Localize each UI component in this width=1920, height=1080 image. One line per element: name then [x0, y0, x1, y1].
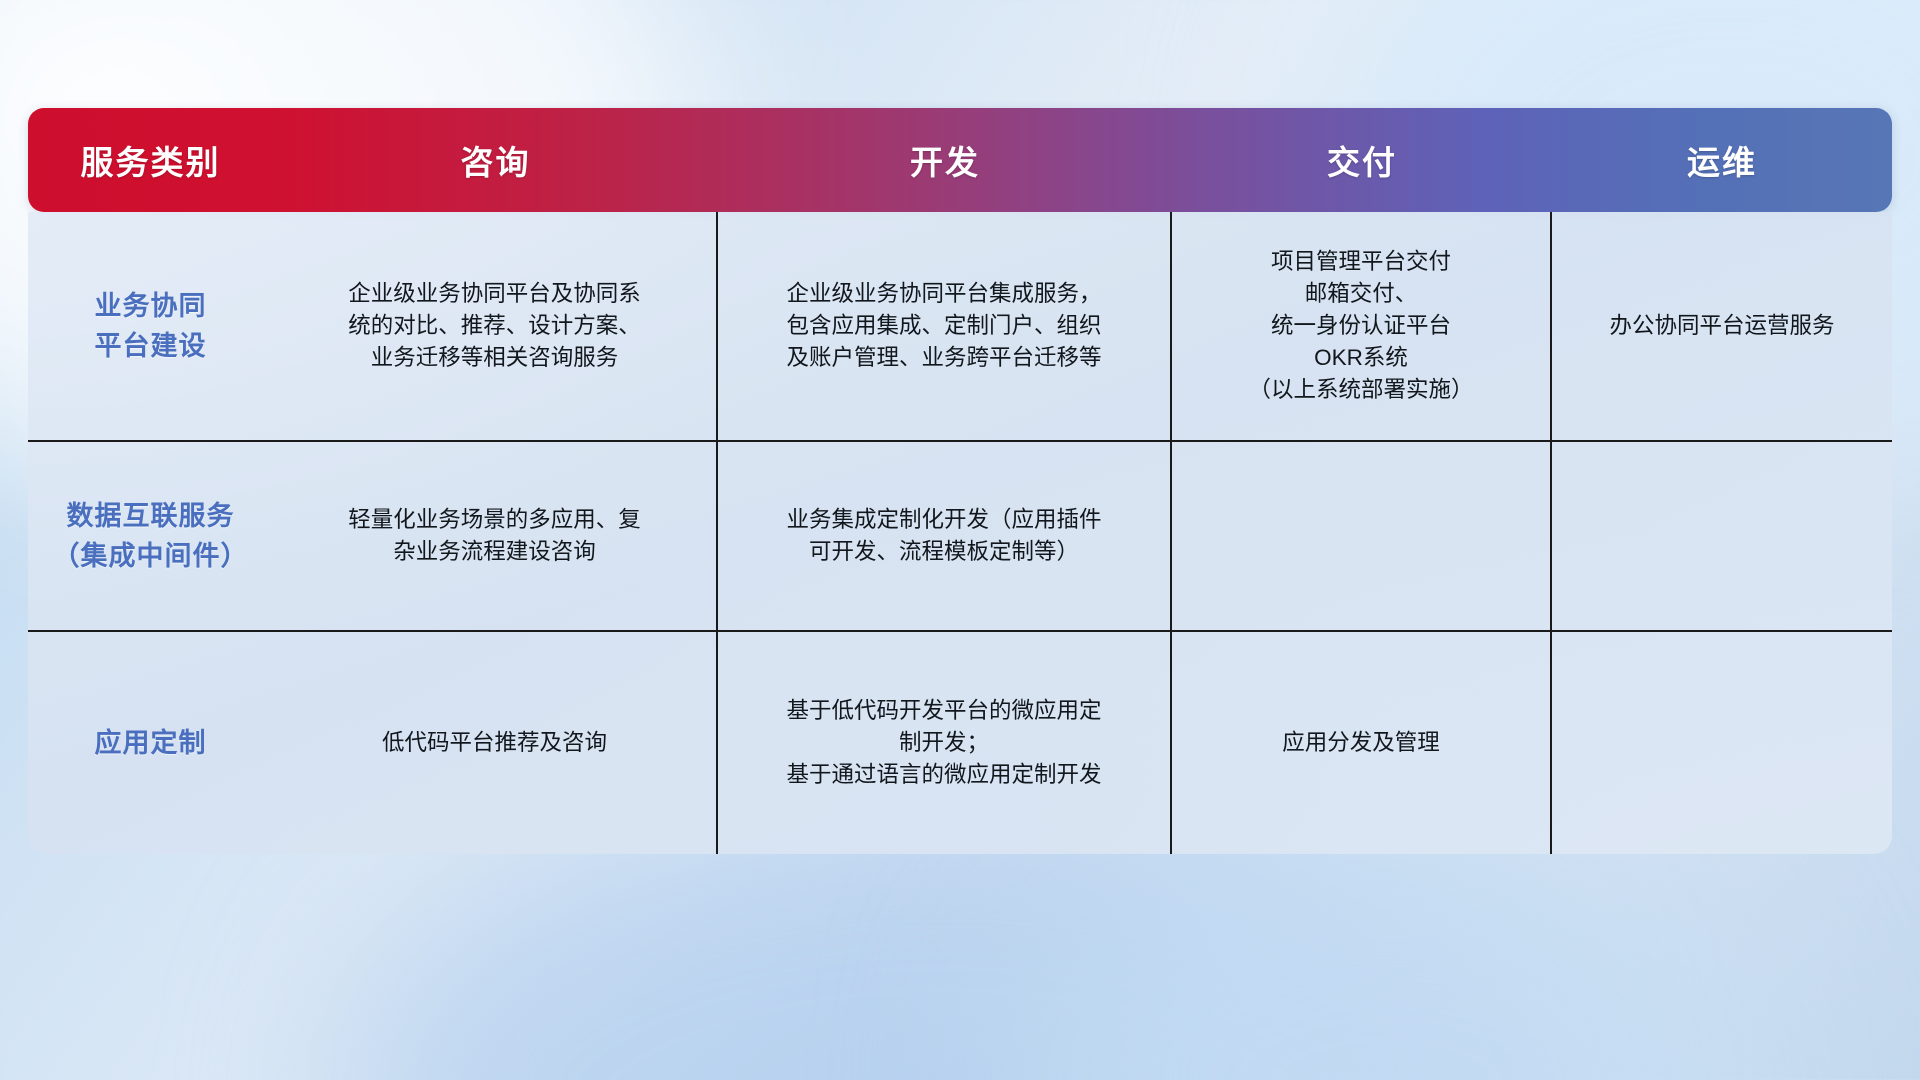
cell-development-row2: 业务集成定制化开发（应用插件 可开发、流程模板定制等）	[718, 442, 1172, 630]
header-cell-consulting: 咨询	[273, 108, 718, 212]
table-header-row: 服务类别 咨询 开发 交付 运维	[28, 108, 1892, 212]
header-cell-delivery: 交付	[1172, 108, 1552, 212]
cell-delivery-row1: 项目管理平台交付 邮箱交付、 统一身份认证平台 OKR系统 （以上系统部署实施）	[1172, 212, 1552, 440]
background-blob-bottom-right	[1006, 820, 1766, 1080]
cell-consulting-row2: 轻量化业务场景的多应用、复 杂业务流程建设咨询	[273, 442, 718, 630]
header-cell-service-category: 服务类别	[28, 108, 273, 212]
cell-development-row3: 基于低代码开发平台的微应用定 制开发； 基于通过语言的微应用定制开发	[718, 632, 1172, 854]
cell-delivery-row2	[1172, 442, 1552, 630]
slide-canvas: 服务类别 咨询 开发 交付 运维 业务协同 平台建设 企业级业务协同平台及协同系…	[0, 0, 1920, 1080]
cell-category-row2: 数据互联服务 （集成中间件）	[28, 442, 273, 630]
service-matrix-table: 服务类别 咨询 开发 交付 运维 业务协同 平台建设 企业级业务协同平台及协同系…	[28, 108, 1892, 854]
cell-operations-row3	[1552, 632, 1892, 854]
cell-development-row1: 企业级业务协同平台集成服务， 包含应用集成、定制门户、组织 及账户管理、业务跨平…	[718, 212, 1172, 440]
header-cell-operations: 运维	[1552, 108, 1892, 212]
table-row: 数据互联服务 （集成中间件） 轻量化业务场景的多应用、复 杂业务流程建设咨询 业…	[28, 442, 1892, 632]
cell-category-row1: 业务协同 平台建设	[28, 212, 273, 440]
cell-category-row3: 应用定制	[28, 632, 273, 854]
table-body: 业务协同 平台建设 企业级业务协同平台及协同系 统的对比、推荐、设计方案、 业务…	[28, 212, 1892, 854]
cell-consulting-row3: 低代码平台推荐及咨询	[273, 632, 718, 854]
table-row: 业务协同 平台建设 企业级业务协同平台及协同系 统的对比、推荐、设计方案、 业务…	[28, 212, 1892, 442]
cell-operations-row1: 办公协同平台运营服务	[1552, 212, 1892, 440]
cell-consulting-row1: 企业级业务协同平台及协同系 统的对比、推荐、设计方案、 业务迁移等相关咨询服务	[273, 212, 718, 440]
header-cell-development: 开发	[718, 108, 1172, 212]
cell-delivery-row3: 应用分发及管理	[1172, 632, 1552, 854]
cell-operations-row2	[1552, 442, 1892, 630]
table-row: 应用定制 低代码平台推荐及咨询 基于低代码开发平台的微应用定 制开发； 基于通过…	[28, 632, 1892, 854]
